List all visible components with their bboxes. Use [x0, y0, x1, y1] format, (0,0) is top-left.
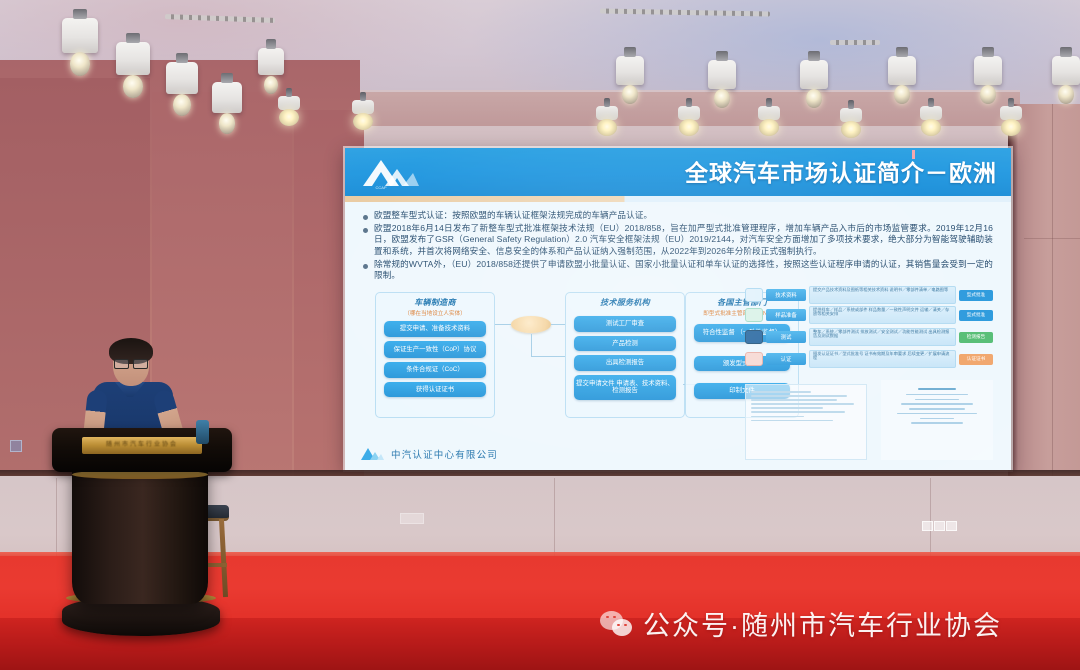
diagram-column-manufacturer: 车辆制造商 （哪在当地设立人实体） 提交申请、准备技术资料 保证生产一致性（Co… [375, 292, 495, 418]
diagram-box: 产品检测 [574, 336, 676, 352]
light-glow [353, 113, 373, 130]
stage-light-fixture [62, 18, 98, 74]
watermark-text: 公众号·随州市汽车行业协会 [643, 604, 1002, 643]
diagram-review-cloud [511, 316, 551, 333]
column-subheading: （哪在当地设立人实体） [376, 309, 494, 317]
certificate-mockup [881, 380, 993, 460]
test-icon [745, 330, 763, 344]
mock-line [751, 403, 854, 405]
wechat-icon [600, 611, 634, 637]
stage-light-fixture [974, 56, 1002, 102]
light-arm [286, 88, 293, 97]
light-glow [841, 121, 861, 138]
slide-header-underline [345, 196, 1011, 202]
light-body [212, 82, 242, 113]
mock-line [751, 407, 823, 409]
wall-outlet [946, 521, 957, 531]
right-wall-seam [1052, 104, 1053, 524]
par-light [840, 108, 862, 134]
wechat-bubble-small [612, 619, 632, 636]
diagram-box: 测试工厂审查 [574, 316, 676, 332]
bullet-item: 欧盟2018年6月14日发布了新整车型式批准框架技术法规（EU）2018/858… [363, 223, 993, 257]
light-can [352, 100, 374, 114]
light-body [62, 18, 98, 53]
light-body [166, 62, 198, 94]
mock-line [911, 422, 963, 423]
bullet-text: 欧盟整车型式认证：按照欧盟的车辆认证框架法规完成的车辆产品认证。 [374, 210, 652, 221]
screenshot-scene: CCAP 全球汽车市场认证简介－欧洲 欧盟整车型式认证：按照欧盟的车辆认证框架法… [0, 0, 1080, 670]
column-heading: 技术服务机构 [566, 293, 684, 308]
wall-outlet [922, 521, 933, 531]
step-detail: 提交产品技术资料及图纸等相关技术资料 说明书／零部件清单／电路图等 [809, 286, 956, 304]
light-lens [219, 113, 236, 134]
wechat-watermark: 公众号·随州市汽车行业协会 [600, 604, 1002, 643]
wall-sign [10, 440, 22, 452]
light-arm [1008, 98, 1015, 107]
light-body [616, 56, 644, 85]
light-arm [360, 92, 367, 101]
light-glow [679, 119, 699, 136]
mock-line [906, 394, 969, 395]
light-yoke [808, 51, 819, 61]
slide-title: 全球汽车市场认证简介－欧洲 [685, 154, 997, 188]
right-wall-seam [1024, 238, 1080, 239]
ccap-mountain-logo-icon: CCAP [359, 156, 423, 190]
bullet-dot-icon [363, 264, 368, 269]
light-yoke [624, 47, 635, 57]
light-lens [173, 94, 191, 116]
application-form-mockup [745, 384, 867, 460]
light-yoke [982, 47, 993, 57]
light-can [840, 108, 862, 122]
wechat-eye-dot [606, 616, 609, 619]
stage-light-fixture [616, 56, 644, 102]
light-body [974, 56, 1002, 85]
ceiling-truss [830, 40, 880, 45]
mock-line [918, 388, 956, 390]
diagram-box: 保证生产一致性（CoP）协议 [384, 341, 486, 359]
stage-light-fixture [1052, 56, 1080, 102]
light-arm [766, 98, 773, 107]
step-detail: 整车／系统／零部件测试 排放测试／安全测试／功能性能测试 出具检测报告及测试数据 [809, 328, 956, 346]
slide-footer: 中汽认证中心有限公司 [359, 446, 498, 462]
stage-light-fixture [258, 48, 284, 92]
light-yoke [221, 73, 233, 83]
mock-line [915, 399, 960, 400]
light-arm [686, 98, 693, 107]
light-glow [1001, 119, 1021, 136]
step-tag: 认证 [766, 353, 806, 365]
step-tag: 测试 [766, 331, 806, 343]
light-lens [622, 85, 638, 104]
diagram-box: 提交申请、准备技术资料 [384, 321, 486, 337]
light-body [116, 42, 150, 75]
stamp-icon [745, 352, 763, 366]
step-badge: 型式批准 [959, 290, 993, 301]
light-lens [714, 89, 730, 108]
light-can [278, 96, 300, 110]
light-yoke [73, 9, 87, 19]
light-body [708, 60, 736, 89]
stage-light-fixture [800, 60, 828, 106]
wall-sign-faint [400, 513, 424, 524]
mock-line [897, 413, 978, 414]
light-glow [597, 119, 617, 136]
slide-bullet-list: 欧盟整车型式认证：按照欧盟的车辆认证框架法规完成的车辆产品认证。 欧盟2018年… [363, 210, 993, 283]
diagram-connector [495, 324, 511, 325]
diagram-box: 获得认证证书 [384, 382, 486, 398]
light-yoke [716, 51, 727, 61]
podium-plaque-text: 随州市汽车行业协会 [82, 437, 202, 454]
light-body [888, 56, 916, 85]
light-yoke [176, 53, 189, 63]
diagram-connector [531, 334, 532, 356]
diagram-box: 提交申请文件 申请表、技术资料、检测报告 [574, 375, 676, 400]
light-arm [848, 100, 855, 109]
par-light [758, 106, 780, 132]
light-arm [928, 98, 935, 107]
diagram-column-technical-service: 技术服务机构 测试工厂审查 产品检测 出具检测报告 提交申请文件 申请表、技术资… [565, 292, 685, 418]
wechat-eye-dot [617, 624, 620, 627]
process-step-row: 测试 整车／系统／零部件测试 排放测试／安全测试／功能性能测试 出具检测报告及测… [745, 328, 993, 346]
light-body [258, 48, 284, 75]
stage-light-fixture [888, 56, 916, 102]
step-tag: 技术资料 [766, 289, 806, 301]
glasses-icon [114, 359, 148, 367]
ccap-mountain-logo-small-icon [359, 446, 385, 462]
light-can [596, 106, 618, 120]
document-icon [745, 288, 763, 302]
mock-line [751, 391, 811, 393]
light-lens [894, 85, 910, 104]
mock-line [751, 399, 837, 401]
light-can [758, 106, 780, 120]
light-yoke [1060, 47, 1071, 57]
projection-screen[interactable]: CCAP 全球汽车市场认证简介－欧洲 欧盟整车型式认证：按照欧盟的车辆认证框架法… [345, 148, 1011, 470]
glasses-lens [133, 359, 148, 369]
process-step-row: 样品准备 提供样车／样品／系统或部件 样品数量／一致性声明文件 运输／清关／存放… [745, 306, 993, 324]
mock-line [920, 418, 954, 419]
glasses-lens [114, 359, 129, 369]
light-yoke [126, 33, 140, 43]
light-body [1052, 56, 1080, 85]
bullet-item: 欧盟整车型式认证：按照欧盟的车辆认证框架法规完成的车辆产品认证。 [363, 210, 993, 221]
diagram-connector [531, 356, 565, 357]
light-lens [70, 52, 90, 76]
wall-outlet [934, 521, 945, 531]
light-lens [1058, 85, 1074, 104]
step-detail: 颁发认证证书／型式批准号 证书有效期及年审要求 后续变更／扩展申请流程 [809, 350, 956, 368]
bullet-text: 欧盟2018年6月14日发布了新整车型式批准框架技术法规（EU）2018/858… [374, 223, 993, 257]
bullet-dot-icon [363, 215, 368, 220]
step-badge: 型式批准 [959, 310, 993, 321]
par-light [352, 100, 374, 126]
stool-leg [219, 519, 228, 597]
bullet-dot-icon [363, 228, 368, 233]
light-yoke [896, 47, 907, 57]
light-can [920, 106, 942, 120]
par-light [1000, 106, 1022, 132]
mock-line [909, 408, 965, 409]
mock-line [901, 403, 973, 404]
mock-line [751, 416, 804, 418]
par-light [278, 96, 300, 122]
light-arm [604, 98, 611, 107]
light-lens [264, 76, 279, 94]
light-lens [980, 85, 996, 104]
par-light [920, 106, 942, 132]
bullet-item: 除常规的WVTA外，（EU）2018/858还提供了申请欧盟小批量认证、国家小批… [363, 259, 993, 281]
microphone [196, 420, 209, 444]
par-light [678, 106, 700, 132]
process-step-row: 技术资料 提交产品技术资料及图纸等相关技术资料 说明书／零部件清单／电路图等 型… [745, 286, 993, 304]
par-light [596, 106, 618, 132]
diagram-connector [551, 324, 565, 325]
svg-text:CCAP: CCAP [375, 185, 386, 190]
light-body [800, 60, 828, 89]
podium-body [72, 462, 208, 604]
step-badge: 认证证书 [959, 354, 993, 365]
light-lens [123, 75, 142, 98]
diagram-box: 条件合规证（CoC） [384, 362, 486, 378]
wechat-eye-dot [624, 624, 627, 627]
step-badge: 检测报告 [959, 332, 993, 343]
column-heading: 车辆制造商 [376, 293, 494, 308]
stage-light-fixture [212, 82, 242, 132]
stage-light-fixture [166, 62, 198, 114]
stage-light-fixture [116, 42, 150, 96]
step-tag: 样品准备 [766, 309, 806, 321]
light-glow [921, 119, 941, 136]
light-can [678, 106, 700, 120]
process-step-row: 认证 颁发认证证书／型式批准号 证书有效期及年审要求 后续变更／扩展申请流程 认… [745, 350, 993, 368]
mock-line [751, 395, 847, 397]
light-can [1000, 106, 1022, 120]
stage-light-fixture [708, 60, 736, 106]
light-yoke [266, 39, 276, 49]
light-glow [279, 109, 299, 126]
car-icon [745, 308, 763, 322]
mock-line [751, 420, 833, 422]
step-detail: 提供样车／样品／系统或部件 样品数量／一致性声明文件 运输／清关／存放等相关安排 [809, 306, 956, 324]
right-wall [1008, 104, 1080, 524]
wechat-eye-dot [613, 616, 616, 619]
light-lens [806, 89, 822, 108]
mock-line [751, 411, 845, 413]
diagram-box: 出具检测报告 [574, 355, 676, 371]
podium-plaque: 随州市汽车行业协会 [82, 437, 202, 454]
light-glow [759, 119, 779, 136]
slide-footer-company: 中汽认证中心有限公司 [391, 447, 498, 461]
bullet-text: 除常规的WVTA外，（EU）2018/858还提供了申请欧盟小批量认证、国家小批… [374, 259, 993, 281]
